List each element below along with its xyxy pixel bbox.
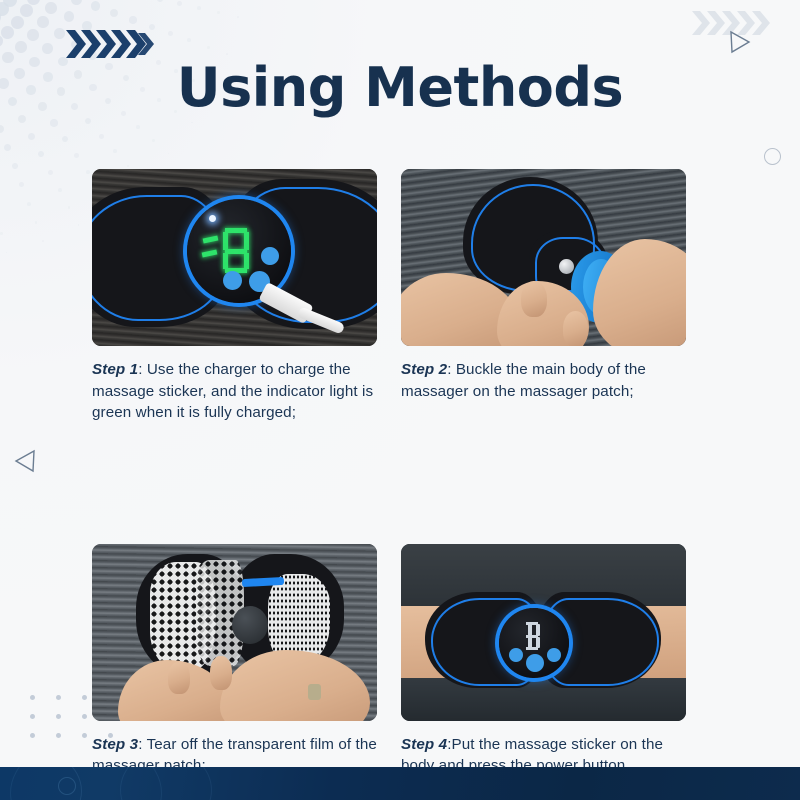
step-card-4: Step 4:Put the massage sticker on the bo… (401, 544, 686, 777)
photo-massager-on-body (401, 544, 686, 721)
photo-buckle-main-body (401, 169, 686, 346)
step-label-3: Step 3 (92, 736, 138, 753)
circle-outline (764, 148, 781, 165)
step-card-3: Step 3: Tear off the transparent film of… (92, 544, 377, 777)
indicator-led (209, 215, 216, 222)
page-root: Using Methods (0, 0, 800, 800)
triangle-left-icon (12, 448, 38, 474)
photo-tear-off-film (92, 544, 377, 721)
page-title: Using Methods (0, 56, 800, 120)
step-label-1: Step 1 (92, 361, 138, 378)
step-separator-2: : (447, 361, 456, 378)
step-caption-1: Step 1: Use the charger to charge the ma… (92, 359, 377, 424)
step-label-2: Step 2 (401, 361, 447, 378)
step-separator-3: : (138, 736, 146, 753)
triangle-right-icon (727, 29, 753, 55)
steps-grid: Step 1: Use the charger to charge the ma… (92, 169, 686, 777)
step-caption-2: Step 2: Buckle the main body of the mass… (401, 359, 686, 402)
bottom-bar (0, 767, 800, 800)
step-separator-1: : (138, 361, 147, 378)
step-card-1: Step 1: Use the charger to charge the ma… (92, 169, 377, 424)
step-label-4: Step 4 (401, 736, 447, 753)
step-card-2: Step 2: Buckle the main body of the mass… (401, 169, 686, 424)
photo-charging-massager (92, 169, 377, 346)
